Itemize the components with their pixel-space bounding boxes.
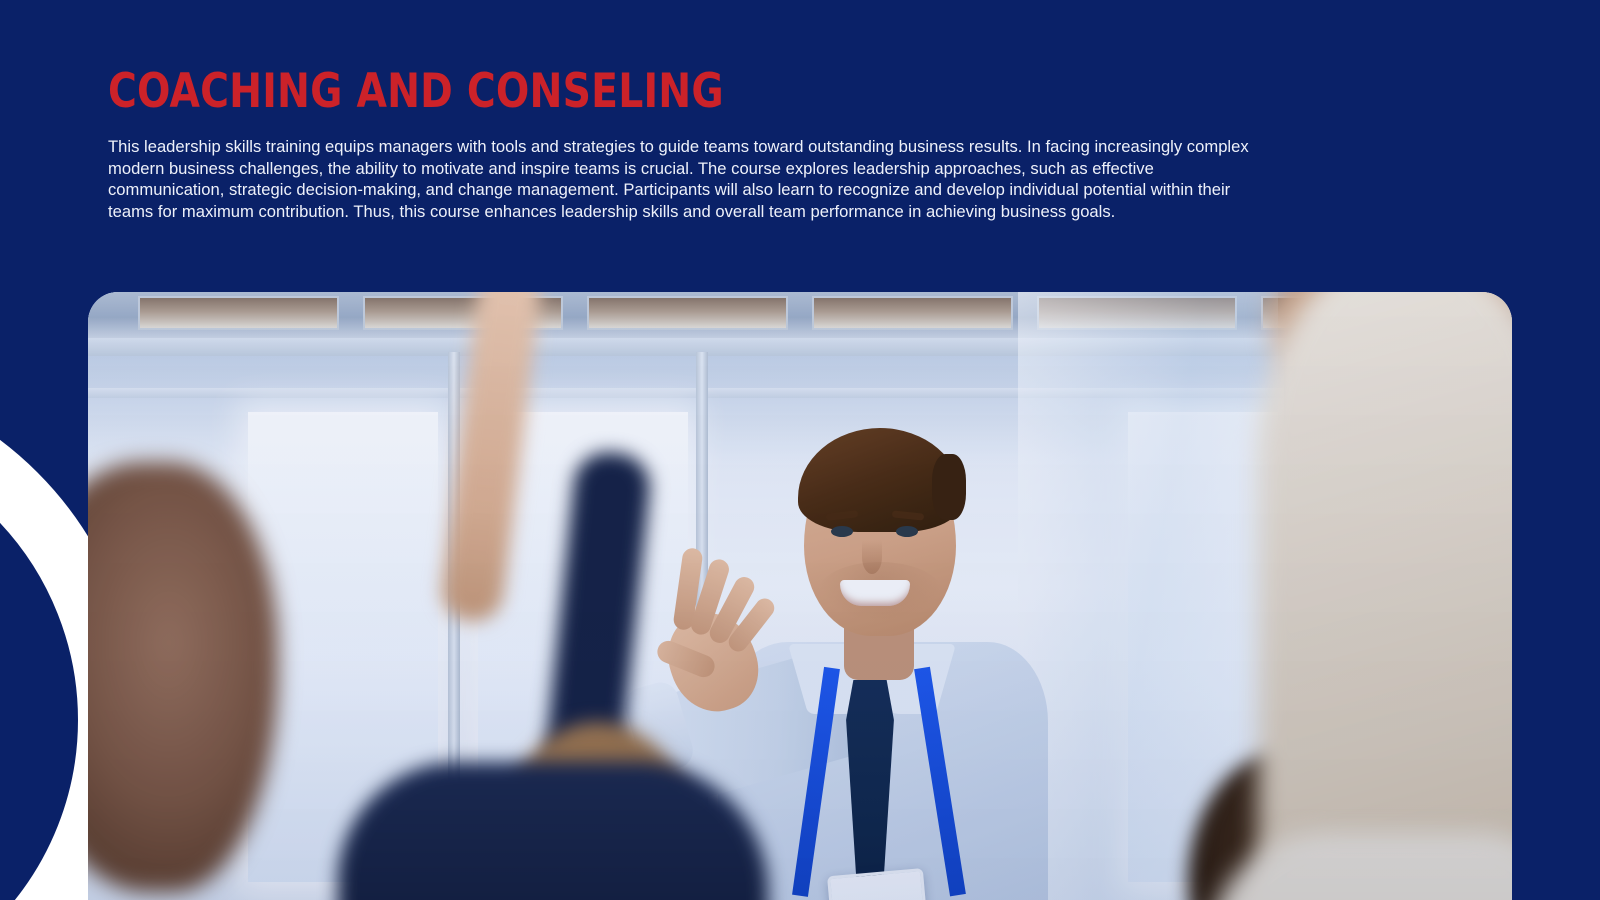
photo-scene-background: ANNUAL MEETING (88, 292, 1512, 900)
hero-photo: ANNUAL MEETING (88, 292, 1512, 900)
description-paragraph: This leadership skills training equips m… (108, 136, 1273, 223)
content-block: COACHING AND CONSELING This leadership s… (108, 68, 1288, 223)
page-title: COACHING AND CONSELING (108, 68, 1205, 117)
photo-color-grade (88, 292, 1512, 900)
